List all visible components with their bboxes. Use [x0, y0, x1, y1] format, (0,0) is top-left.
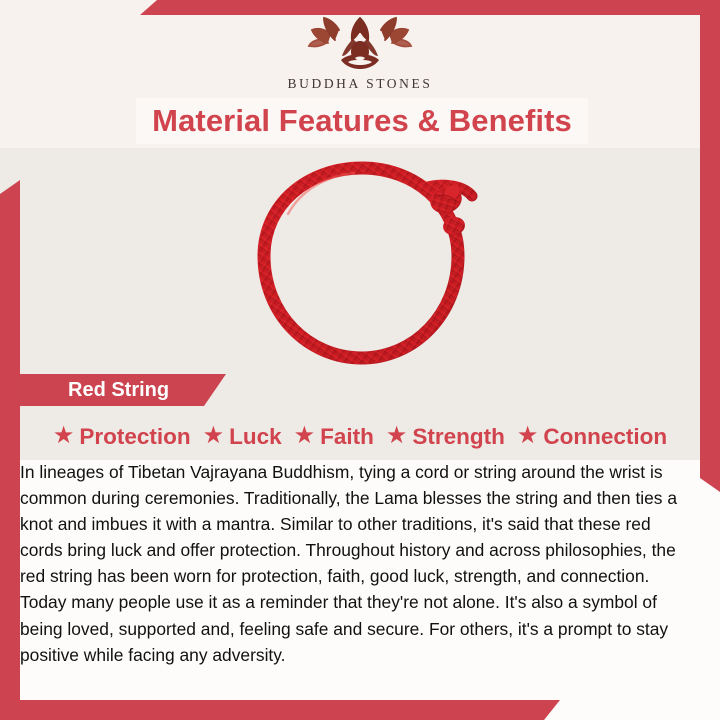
feature-list: ★ Protection ★ Luck ★ Faith ★ Strength ★…	[14, 420, 706, 454]
decorative-bar-top	[140, 0, 720, 15]
star-icon: ★	[517, 424, 539, 448]
star-icon: ★	[294, 424, 316, 448]
feature-item-strength: ★ Strength	[386, 424, 505, 450]
infographic-page: BUDDHA STONES Material Features & Benefi…	[0, 0, 720, 720]
description-text: In lineages of Tibetan Vajrayana Buddhis…	[20, 459, 696, 668]
feature-label: Strength	[412, 424, 505, 450]
feature-item-luck: ★ Luck	[203, 424, 282, 450]
product-label-ribbon: Red String	[20, 374, 226, 406]
product-label-text: Red String	[68, 379, 169, 402]
feature-item-faith: ★ Faith	[294, 424, 374, 450]
feature-label: Faith	[320, 424, 374, 450]
brand-logo: BUDDHA STONES	[0, 16, 720, 96]
page-title: Material Features & Benefits	[152, 103, 572, 139]
feature-item-protection: ★ Protection	[53, 424, 191, 450]
star-icon: ★	[386, 424, 408, 448]
star-icon: ★	[53, 424, 75, 448]
decorative-bar-bottom	[0, 700, 560, 720]
feature-item-connection: ★ Connection	[517, 424, 667, 450]
red-braided-string-bracelet-image	[228, 152, 496, 376]
feature-label: Protection	[79, 424, 190, 450]
brand-name: BUDDHA STONES	[288, 76, 433, 92]
product-image	[228, 152, 496, 376]
feature-label: Connection	[543, 424, 667, 450]
star-icon: ★	[203, 424, 225, 448]
lotus-meditation-icon	[301, 16, 419, 74]
feature-label: Luck	[229, 424, 282, 450]
title-banner: Material Features & Benefits	[136, 98, 588, 144]
